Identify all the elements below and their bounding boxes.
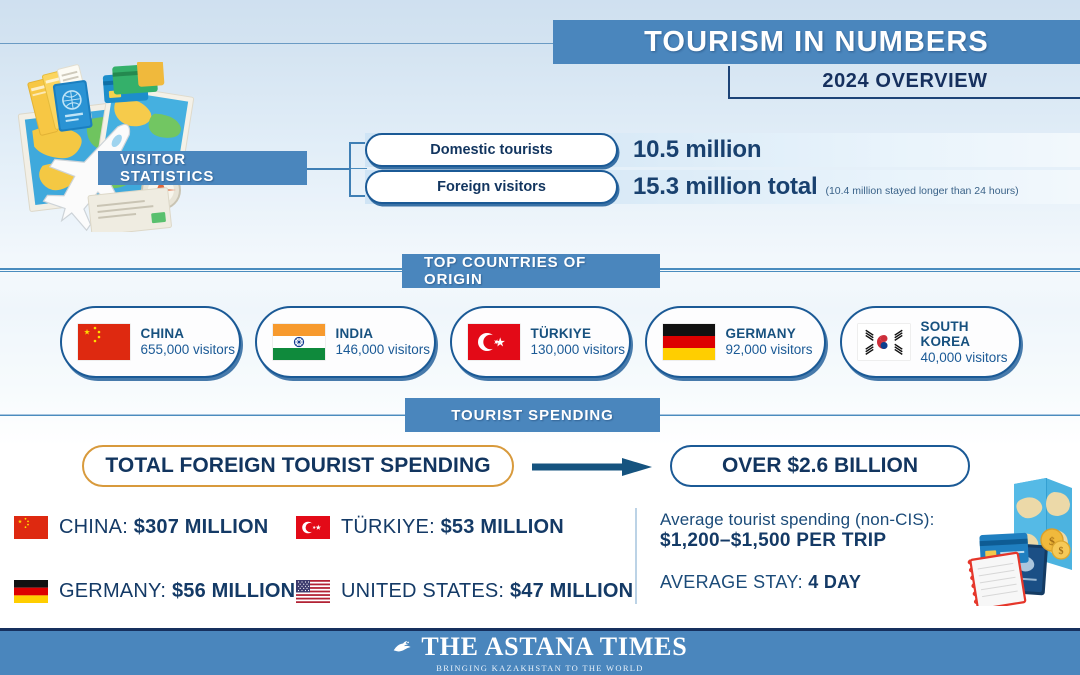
spending-item-text: UNITED STATES: $47 MILLION: [341, 580, 633, 603]
page-subtitle-text: 2024 OVERVIEW: [822, 70, 987, 93]
spending-country: GERMANY:: [59, 580, 166, 602]
section-label-tourist-spending: TOURIST SPENDING: [405, 398, 660, 432]
spending-country: TÜRKIYE:: [341, 516, 435, 538]
average-spending-label: Average tourist spending (non-CIS):: [660, 510, 990, 530]
svg-text:$: $: [1059, 546, 1064, 557]
average-spending-value: $1,200–$1,500 PER TRIP: [660, 530, 990, 552]
chip-connector-line-left: [0, 415, 405, 416]
spending-item-text: GERMANY: $56 MILLION: [59, 580, 295, 603]
flag-in-icon: [273, 324, 325, 360]
section-label-text: TOURIST SPENDING: [451, 407, 613, 424]
country-visitors: 92,000 visitors: [726, 342, 813, 358]
country-visitors: 655,000 visitors: [141, 342, 236, 358]
flag-us-icon: [296, 580, 330, 603]
spending-item-text: CHINA: $307 MILLION: [59, 516, 268, 539]
section-label-text: TOP COUNTRIES OF ORIGIN: [424, 254, 638, 288]
spending-row: CHINA: $307 MILLION TÜRKIYE: $53 MI: [14, 508, 624, 546]
chip-connector-line-left: [0, 271, 402, 272]
country-card: INDIA 146,000 visitors: [255, 306, 436, 378]
total-spending-value-pill: OVER $2.6 BILLION: [670, 445, 970, 487]
country-card: GERMANY 92,000 visitors: [645, 306, 826, 378]
visitor-stat-value: 10.5 million: [633, 133, 761, 167]
brand-block: THE ASTANA TIMES BRINGING KAZAKHSTAN TO …: [392, 634, 687, 673]
country-name: INDIA: [336, 326, 431, 342]
total-spending-value: OVER $2.6 BILLION: [722, 454, 918, 478]
spending-amount: $56 MILLION: [172, 580, 295, 602]
visitor-stat-label-pill: Domestic tourists: [365, 133, 618, 167]
page-title: TOURISM IN NUMBERS: [553, 20, 1080, 64]
spending-item: UNITED STATES: $47 MILLION: [296, 572, 616, 610]
flag-kr-icon: [858, 324, 910, 360]
brand-name: THE ASTANA TIMES: [421, 634, 687, 660]
flag-tr-icon: [296, 516, 330, 539]
country-visitors: 146,000 visitors: [336, 342, 431, 358]
country-name: CHINA: [141, 326, 236, 342]
chip-connector-line-right: [660, 415, 1080, 416]
country-visitors: 130,000 visitors: [531, 342, 626, 358]
section-label-text: VISITOR STATISTICS: [120, 151, 285, 185]
infographic-canvas: TOURISM IN NUMBERS 2024 OVERVIEW: [0, 0, 1080, 675]
country-card: CHINA 655,000 visitors: [60, 306, 241, 378]
flag-de-icon: [663, 324, 715, 360]
country-name: SOUTH KOREA: [921, 319, 1019, 350]
country-name: TÜRKIYE: [531, 326, 626, 342]
visitor-stat-value: 15.3 million total: [633, 170, 817, 204]
flag-cn-icon: [14, 516, 48, 539]
average-stay-label: AVERAGE STAY:: [660, 572, 803, 592]
spending-item: CHINA: $307 MILLION: [14, 508, 296, 546]
right-arrow-icon: [532, 458, 652, 476]
section-label-visitor-statistics: VISITOR STATISTICS: [98, 151, 307, 185]
travel-collage-icon: [6, 62, 211, 232]
visitor-stat-note: (10.4 million stayed longer than 24 hour…: [825, 174, 1018, 208]
visitor-stat-label: Domestic tourists: [430, 142, 552, 158]
average-stay-value: 4 DAY: [808, 572, 861, 592]
visitor-stat-label-pill: Foreign visitors: [365, 170, 618, 204]
money-travel-collage-icon: $ $: [962, 478, 1072, 606]
country-visitors: 40,000 visitors: [921, 350, 1019, 366]
flag-tr-icon: [468, 324, 520, 360]
brand-name-row: THE ASTANA TIMES: [392, 634, 687, 660]
chip-connector-line-right: [660, 271, 1080, 272]
spending-by-country-grid: CHINA: $307 MILLION TÜRKIYE: $53 MI: [14, 508, 624, 610]
section-label-top-countries: TOP COUNTRIES OF ORIGIN: [402, 254, 660, 288]
country-name: GERMANY: [726, 326, 813, 342]
spending-item: TÜRKIYE: $53 MILLION: [296, 508, 616, 546]
visitor-stat-label: Foreign visitors: [437, 179, 546, 195]
page-title-text: TOURISM IN NUMBERS: [644, 26, 989, 59]
brand-tagline: BRINGING KAZAKHSTAN TO THE WORLD: [436, 663, 643, 673]
spending-amount: $307 MILLION: [134, 516, 269, 538]
flag-de-icon: [14, 580, 48, 603]
spending-item: GERMANY: $56 MILLION: [14, 572, 296, 610]
total-spending-label-pill: TOTAL FOREIGN TOURIST SPENDING: [82, 445, 514, 487]
top-countries-list: CHINA 655,000 visitors INDIA: [0, 306, 1080, 378]
spending-country: CHINA:: [59, 516, 128, 538]
spending-amount: $53 MILLION: [441, 516, 564, 538]
footer-bar: THE ASTANA TIMES BRINGING KAZAKHSTAN TO …: [0, 628, 1080, 675]
flag-cn-icon: [78, 324, 130, 360]
page-subtitle: 2024 OVERVIEW: [728, 66, 1080, 99]
astana-times-logo-icon: [392, 634, 414, 660]
country-card: TÜRKIYE 130,000 visitors: [450, 306, 631, 378]
visitor-stat-value-group: 15.3 million total (10.4 million stayed …: [633, 170, 1019, 204]
country-card: SOUTH KOREA 40,000 visitors: [840, 306, 1021, 378]
visitor-stat-value-group: 10.5 million: [633, 133, 769, 167]
spending-row: GERMANY: $56 MILLION: [14, 572, 624, 610]
spending-amount: $47 MILLION: [510, 580, 633, 602]
spending-country: UNITED STATES:: [341, 580, 504, 602]
total-spending-label: TOTAL FOREIGN TOURIST SPENDING: [105, 454, 490, 478]
average-stay-line: AVERAGE STAY: 4 DAY: [660, 572, 990, 593]
average-stats-block: Average tourist spending (non-CIS): $1,2…: [660, 510, 990, 593]
spending-item-text: TÜRKIYE: $53 MILLION: [341, 516, 564, 539]
vertical-divider: [635, 508, 637, 604]
